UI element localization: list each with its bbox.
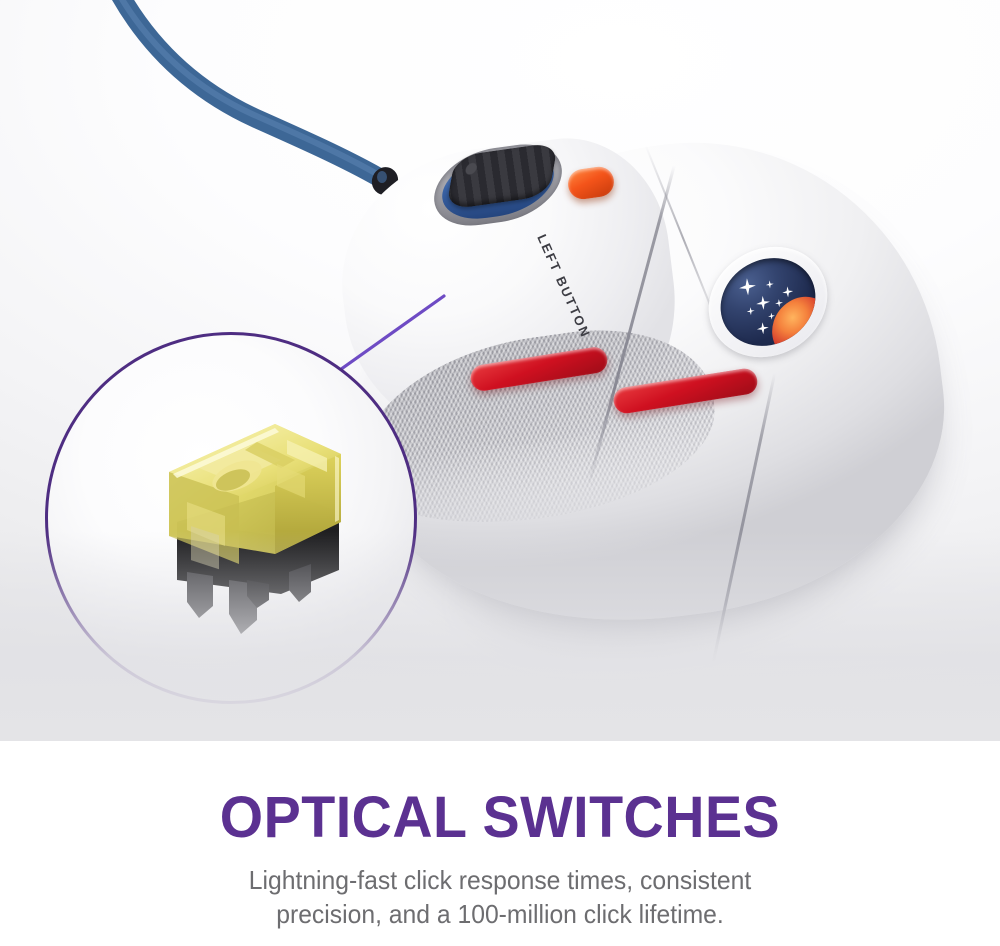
subtitle-line-1: Lightning-fast click response times, con… (25, 864, 975, 898)
subtitle-line-2: precision, and a 100-million click lifet… (25, 898, 975, 932)
switch-leg (187, 572, 213, 618)
page-title: OPTICAL SWITCHES (20, 789, 980, 847)
product-photo: LEFT BUTTON (0, 0, 1000, 741)
caption-panel: OPTICAL SWITCHES Lightning-fast click re… (0, 741, 1000, 946)
optical-switch (129, 394, 359, 644)
subtitle: Lightning-fast click response times, con… (25, 864, 975, 932)
optical-switch-inset (45, 332, 417, 704)
switch-leg (229, 580, 257, 634)
switch-leg (289, 564, 311, 602)
optical-switch-illustration (129, 394, 359, 644)
